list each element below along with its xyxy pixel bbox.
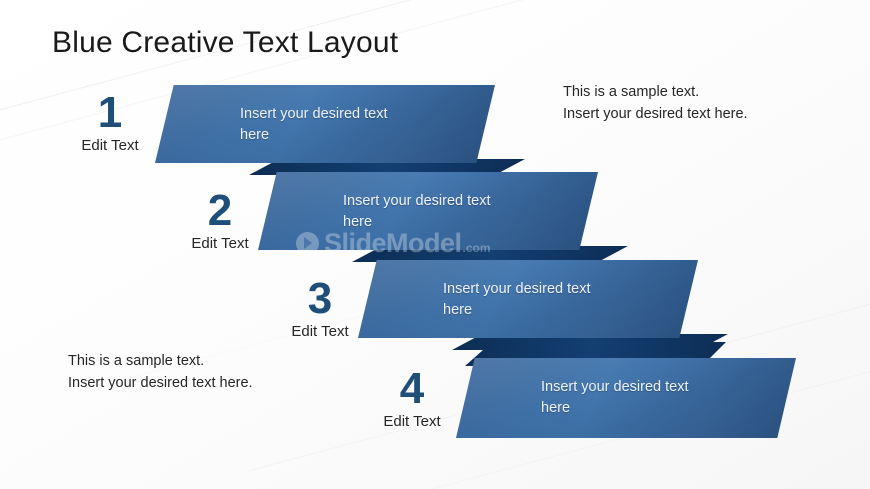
- step-band-3[interactable]: Insert your desired text here: [358, 260, 778, 355]
- step-band-3-text: Insert your desired text here: [443, 279, 628, 321]
- step-caption-2: Edit Text: [172, 235, 268, 252]
- step-number-4: 4: [364, 368, 460, 410]
- note-top-right: This is a sample text. Insert your desir…: [563, 82, 748, 126]
- step-band-2[interactable]: Insert your desired text here: [258, 172, 678, 267]
- slide-title: Blue Creative Text Layout: [52, 26, 398, 60]
- step-band-2-text: Insert your desired text here: [343, 191, 528, 233]
- step-label-4: 4 Edit Text: [364, 368, 460, 430]
- step-band-4[interactable]: Insert your desired text here: [456, 350, 870, 450]
- slide-canvas: Blue Creative Text Layout Insert your de…: [0, 0, 870, 489]
- step-label-2: 2 Edit Text: [172, 190, 268, 252]
- step-number-2: 2: [172, 190, 268, 232]
- step-band-4-text: Insert your desired text here: [541, 377, 726, 419]
- step-caption-1: Edit Text: [62, 137, 158, 154]
- step-label-1: 1 Edit Text: [62, 92, 158, 154]
- note-bottom-left: This is a sample text. Insert your desir…: [68, 351, 253, 395]
- step-band-1[interactable]: Insert your desired text here: [155, 85, 575, 180]
- step-number-3: 3: [272, 278, 368, 320]
- step-number-1: 1: [62, 92, 158, 134]
- step-caption-4: Edit Text: [364, 413, 460, 430]
- step-label-3: 3 Edit Text: [272, 278, 368, 340]
- step-band-1-text: Insert your desired text here: [240, 104, 425, 146]
- step-caption-3: Edit Text: [272, 323, 368, 340]
